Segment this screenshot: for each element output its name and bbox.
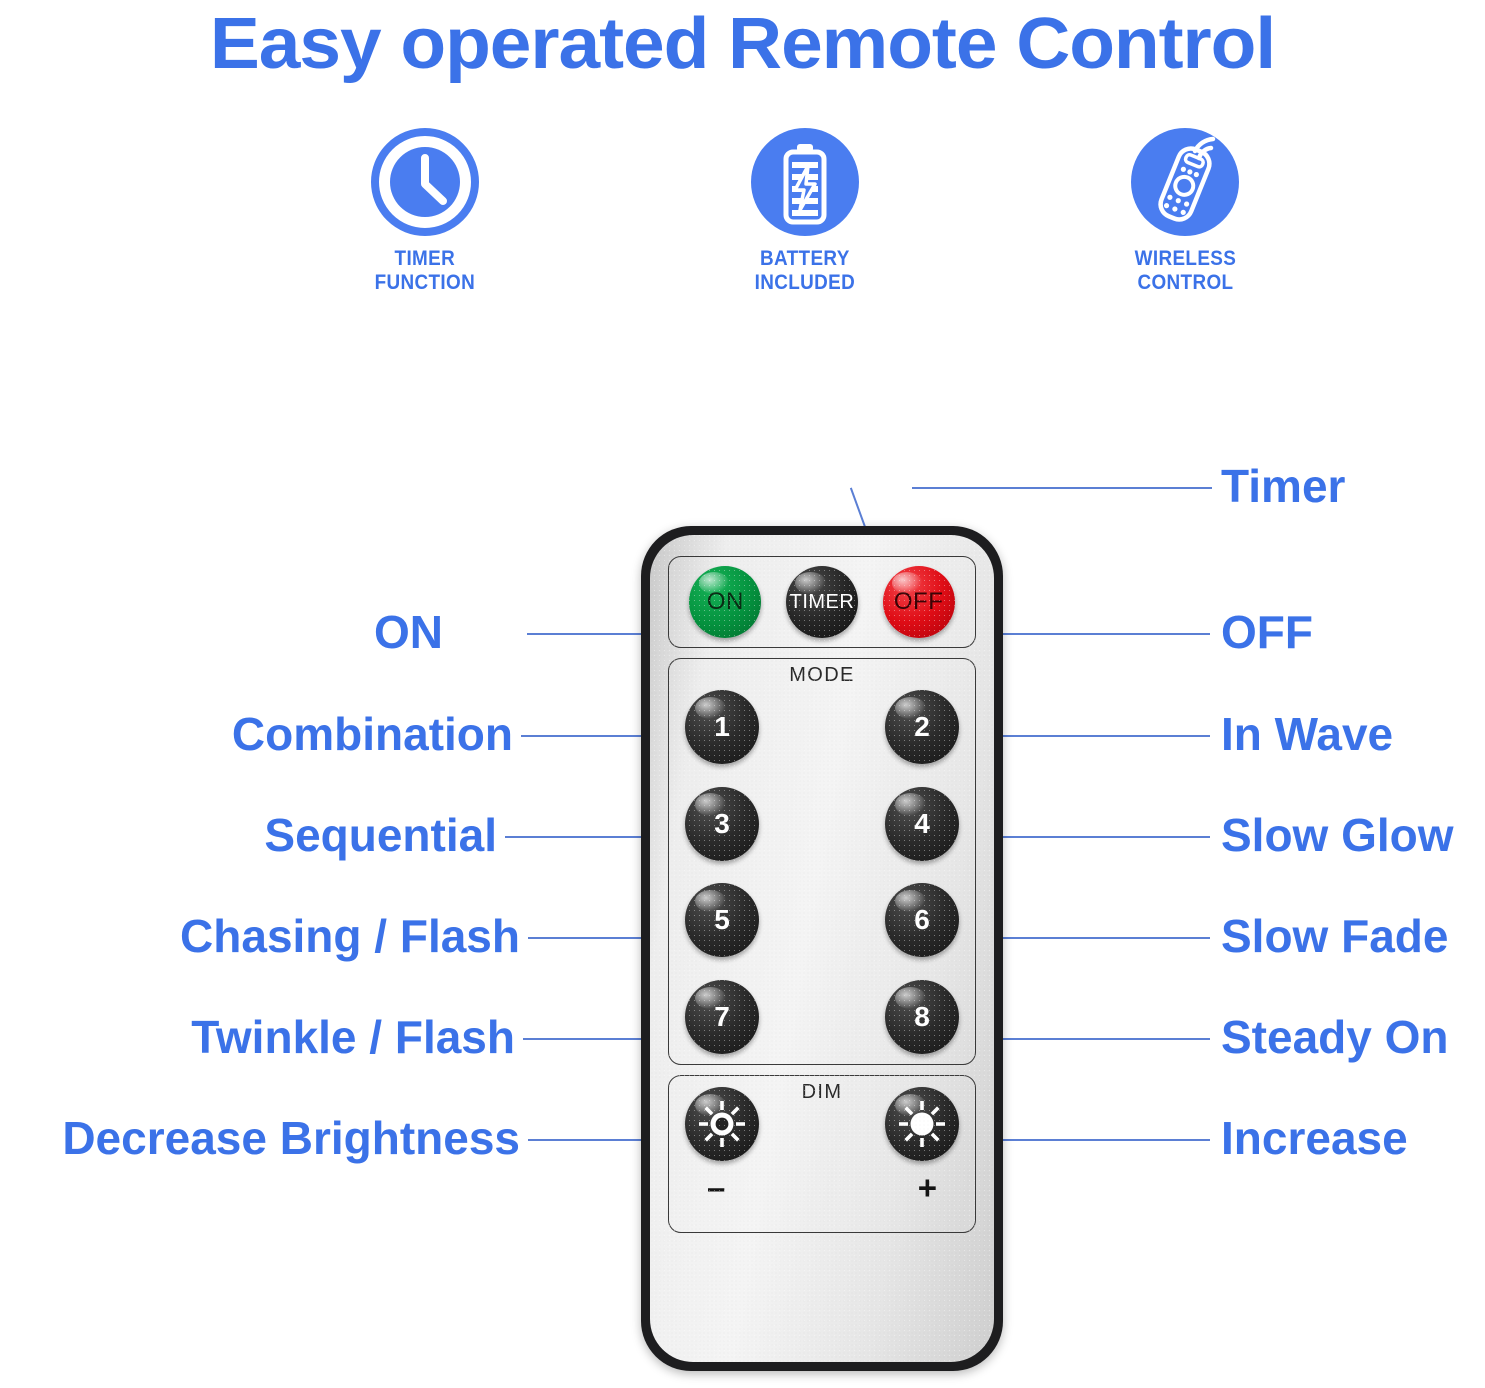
callout-chasing-flash: Chasing / Flash bbox=[180, 913, 520, 959]
battery-icon bbox=[751, 128, 859, 236]
feature-timer-line2: FUNCTION bbox=[375, 271, 476, 295]
feature-battery-line2: INCLUDED bbox=[755, 271, 856, 295]
callout-slow-glow: Slow Glow bbox=[1221, 812, 1454, 858]
feature-wireless-label: WIRELESS CONTROL bbox=[1134, 247, 1236, 294]
feature-wireless-line1: WIRELESS bbox=[1134, 247, 1236, 271]
plus-sign: + bbox=[918, 1171, 937, 1204]
off-button-label: OFF bbox=[894, 588, 944, 616]
power-button-panel: ON TIMER OFF bbox=[668, 556, 976, 648]
mode-row-3: 5 6 bbox=[685, 883, 959, 957]
feature-timer-function: TIMER FUNCTION bbox=[300, 128, 550, 294]
callout-in-wave: In Wave bbox=[1221, 711, 1393, 757]
page-title: Easy operated Remote Control bbox=[0, 2, 1485, 86]
mode-button-3[interactable]: 3 bbox=[685, 787, 759, 861]
callout-twinkle-flash: Twinkle / Flash bbox=[191, 1014, 515, 1060]
remote-control-device: ON TIMER OFF MODE 1 bbox=[641, 526, 1003, 1371]
mode-button-grid: 1 2 3 4 bbox=[685, 690, 959, 1054]
off-button[interactable]: OFF bbox=[883, 566, 955, 638]
mode-caption: MODE bbox=[669, 664, 975, 687]
sun-filled-icon bbox=[694, 1096, 750, 1152]
mode-button-2-label: 2 bbox=[914, 711, 930, 743]
mode-button-7-label: 7 bbox=[714, 1001, 730, 1033]
mode-button-4[interactable]: 4 bbox=[885, 787, 959, 861]
leader-line-timer-horizontal bbox=[912, 487, 1212, 489]
mode-button-4-label: 4 bbox=[914, 808, 930, 840]
feature-timer-label: TIMER FUNCTION bbox=[375, 247, 476, 294]
callout-increase: Increase bbox=[1221, 1115, 1408, 1161]
feature-wireless-line2: CONTROL bbox=[1134, 271, 1236, 295]
on-button[interactable]: ON bbox=[689, 566, 761, 638]
mode-button-1[interactable]: 1 bbox=[685, 690, 759, 764]
infographic-canvas: Easy operated Remote Control TIMER FUNCT… bbox=[0, 0, 1485, 1388]
remote-faceplate: ON TIMER OFF MODE 1 bbox=[650, 535, 994, 1362]
mode-row-2: 3 4 bbox=[685, 787, 959, 861]
mode-button-1-label: 1 bbox=[714, 711, 730, 743]
mode-button-2[interactable]: 2 bbox=[885, 690, 959, 764]
clock-icon bbox=[371, 128, 479, 236]
mode-button-6-label: 6 bbox=[914, 904, 930, 936]
mode-row-1: 1 2 bbox=[685, 690, 959, 764]
feature-badge-row: TIMER FUNCTION BATTERY INCLUDED bbox=[300, 128, 1310, 318]
callout-sequential: Sequential bbox=[264, 812, 497, 858]
sun-hollow-icon bbox=[894, 1096, 950, 1152]
dim-button-panel: DIM bbox=[668, 1075, 976, 1233]
callout-off: OFF bbox=[1221, 609, 1313, 655]
on-button-label: ON bbox=[707, 588, 744, 616]
mode-button-8[interactable]: 8 bbox=[885, 980, 959, 1054]
brightness-increase-button[interactable] bbox=[885, 1087, 959, 1161]
mode-button-5-label: 5 bbox=[714, 904, 730, 936]
callout-timer: Timer bbox=[1221, 463, 1345, 509]
callout-on: ON bbox=[374, 609, 443, 655]
feature-battery-label: BATTERY INCLUDED bbox=[755, 247, 856, 294]
callout-steady-on: Steady On bbox=[1221, 1014, 1449, 1060]
feature-battery-included: BATTERY INCLUDED bbox=[680, 128, 930, 294]
timer-button-label: TIMER bbox=[790, 591, 855, 614]
mode-row-4: 7 8 bbox=[685, 980, 959, 1054]
brightness-decrease-button[interactable] bbox=[685, 1087, 759, 1161]
mode-button-panel: MODE 1 2 3 bbox=[668, 658, 976, 1065]
feature-wireless-control: WIRELESS CONTROL bbox=[1060, 128, 1310, 294]
mode-button-8-label: 8 bbox=[914, 1001, 930, 1033]
dim-sign-row: – + bbox=[685, 1171, 959, 1204]
remote-signal-icon bbox=[1131, 128, 1239, 236]
mode-button-6[interactable]: 6 bbox=[885, 883, 959, 957]
minus-sign: – bbox=[707, 1171, 725, 1204]
callout-slow-fade: Slow Fade bbox=[1221, 913, 1448, 959]
mode-button-5[interactable]: 5 bbox=[685, 883, 759, 957]
mode-button-7[interactable]: 7 bbox=[685, 980, 759, 1054]
feature-battery-line1: BATTERY bbox=[755, 247, 856, 271]
feature-timer-line1: TIMER bbox=[375, 247, 476, 271]
callout-decrease-brightness: Decrease Brightness bbox=[62, 1115, 520, 1161]
timer-button[interactable]: TIMER bbox=[786, 566, 858, 638]
callout-combination: Combination bbox=[232, 711, 513, 757]
mode-button-3-label: 3 bbox=[714, 808, 730, 840]
